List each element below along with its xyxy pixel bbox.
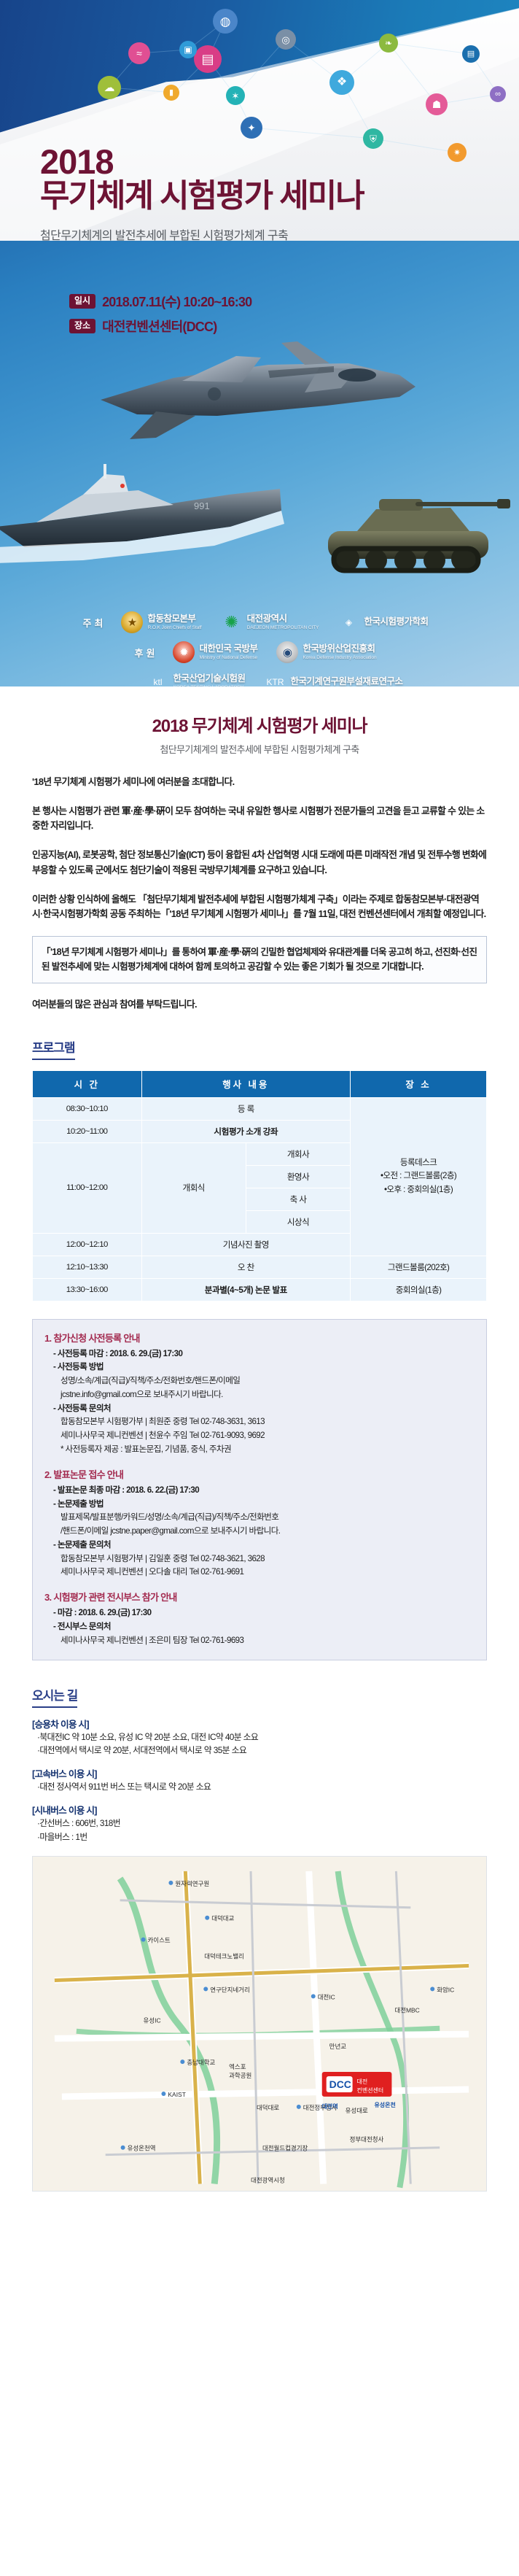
cell-event: 개회식 [141, 1142, 246, 1233]
date-row: 일시 2018.07.11(수) 10:20~16:30 [69, 292, 251, 311]
notice-line: - 전시부스 문의처 [44, 1620, 475, 1634]
directions-line: ·대전역에서 택시로 약 20분, 서대전역에서 택시로 약 35분 소요 [32, 1744, 487, 1757]
intro-title: 2018 무기체계 시험평가 세미나 [32, 711, 487, 737]
antenna-icon: ☗ [426, 93, 448, 115]
sponsor-item-ktl: ktl 한국산업기술시험원 KOREA TESTING LABORATORY [147, 671, 245, 686]
svg-text:과학공원: 과학공원 [229, 2072, 251, 2079]
intro-paragraph-4: 이러한 상황 인식하에 올해도 「첨단무기체계 발전추세에 부합된 시험평가체계… [32, 892, 487, 922]
directions-block-express-bus: [고속버스 이용 시] ·대전 정사역서 911번 버스 또는 택시로 약 20… [32, 1766, 487, 1794]
svg-text:대덕대로: 대덕대로 [257, 2104, 279, 2111]
satellite-icon: ✦ [241, 117, 262, 139]
svg-text:대전: 대전 [357, 2078, 368, 2085]
sponsors-section: 주최 ★ 합동참모본부 R.O.K Joint Chiefs of Staff … [0, 611, 519, 686]
hero-meta-block: 일시 2018.07.11(수) 10:20~16:30 장소 대전컨벤션센터(… [69, 292, 251, 341]
cell-place: 그랜드볼룸(202호) [351, 1256, 487, 1278]
notice-line: - 발표논문 최종 마감 : 2018. 6. 22.(금) 17:30 [44, 1484, 475, 1498]
svg-text:대전IC: 대전IC [318, 1993, 335, 2000]
cell-event: 등 록 [141, 1097, 351, 1120]
fighter-jet-image [86, 330, 429, 461]
notice-line: - 논문제출 방법 [44, 1498, 475, 1512]
directions-block-car: [승용차 이용 시] ·북대전IC 약 10분 소요, 유성 IC 약 20분 … [32, 1717, 487, 1758]
hero-year: 2018 [40, 144, 364, 179]
daejeon-logo-icon: ✺ [221, 611, 243, 633]
date-badge: 일시 [69, 294, 95, 308]
intro-paragraph-5: 여러분들의 많은 관심과 참여를 부탁드립니다. [32, 997, 487, 1013]
host-name-kr: 한국시험평가학회 [364, 617, 428, 627]
intro-note: 「'18년 무기체계 시험평가 세미나」를 통하여 軍·産·學·硏의 긴밀한 협… [32, 936, 487, 983]
notice-section-3: 3. 시험평가 관련 전시부스 참가 안내 - 마감 : 2018. 6. 29… [44, 1590, 475, 1647]
host-name-kr: 합동참모본부 [147, 614, 201, 624]
link-icon: ∞ [490, 86, 506, 102]
intro-paragraph-1: '18년 무기체계 시험평가 세미나에 여러분을 초대합니다. [32, 775, 487, 790]
directions-line: ·대전 정사역서 911번 버스 또는 택시로 약 20분 소요 [32, 1780, 487, 1794]
svg-text:충남대학교: 충남대학교 [187, 2059, 215, 2066]
notice-heading-2: 발표논문 접수 안내 [53, 1469, 123, 1480]
cell-event: 오 찬 [141, 1256, 351, 1278]
host-row: 주최 ★ 합동참모본부 R.O.K Joint Chiefs of Staff … [0, 611, 519, 633]
svg-text:유성대로: 유성대로 [346, 2107, 368, 2114]
svg-text:대전MBC: 대전MBC [394, 2006, 419, 2014]
svg-text:카이스트: 카이스트 [147, 1937, 170, 1944]
notice-title-1: 1. 참가신청 사전등록 안내 [44, 1331, 475, 1345]
notice-heading-1: 참가신청 사전등록 안내 [53, 1333, 139, 1344]
svg-text:유성IC: 유성IC [144, 2016, 161, 2024]
cell-event-sub: 환영사 [246, 1165, 350, 1188]
cell-event-highlight: 시험평가 소개 강좌 [141, 1120, 351, 1142]
sponsor-item-kdia: ◉ 한국방위산업진흥회 Korea Defense Industry Assoc… [276, 641, 376, 663]
svg-text:만년교: 만년교 [329, 2043, 347, 2050]
notice-line: 세미나사무국 제니컨벤션 | 오다솔 대리 Tel 02-761-9691 [44, 1566, 475, 1579]
sponsor-item-ktr: KTR 한국기계연구원부설재료연구소 [265, 671, 403, 686]
program-heading: 프로그램 [32, 1037, 75, 1060]
sponsor-name-kr: 한국산업기술시험원 [173, 674, 245, 684]
sponsor-name-kr: 한국기계연구원부설재료연구소 [291, 677, 403, 686]
intro-subtitle: 첨단무기체계의 발전추세에 부합된 시험평가체계 구축 [32, 742, 487, 756]
cell-event-sub: 축 사 [246, 1188, 350, 1210]
notice-line: 세미나사무국 제니컨벤션 | 천윤수 주임 Tel 02-761-9093, 9… [44, 1429, 475, 1443]
svg-text:대덕대교: 대덕대교 [211, 1915, 234, 1922]
directions-title: [시내버스 이용 시] [32, 1803, 487, 1817]
kates-logo-icon: ◈ [337, 611, 359, 633]
col-event: 행사 내용 [141, 1070, 351, 1097]
sponsor-name-en: Korea Defense Industry Association [303, 655, 376, 660]
notice-line: jcstne.info@gmail.com으로 보내주시기 바랍니다. [44, 1388, 475, 1402]
directions-line: ·북대전IC 약 10분 소요, 유성 IC 약 20분 소요, 대전 IC약 … [32, 1730, 487, 1744]
directions-title: [고속버스 이용 시] [32, 1766, 487, 1780]
host-name-en: DAEJEON METROPOLITAN CITY [247, 625, 319, 630]
directions-title: [승용차 이용 시] [32, 1717, 487, 1730]
cell-time: 13:30~16:00 [33, 1278, 142, 1301]
cell-event: 기념사진 촬영 [141, 1233, 351, 1256]
table-row: 08:30~10:10 등 록 등록데스크 •오전 : 그랜드볼룸(2층) •오… [33, 1097, 487, 1120]
location-map[interactable]: DCC 대전 컨벤션센터 원자력연구원 대덕대교 카이스트 대덕테크노밸리 연구… [32, 1856, 487, 2192]
cell-time: 08:30~10:10 [33, 1097, 142, 1120]
host-item-jcs: ★ 합동참모본부 R.O.K Joint Chiefs of Staff [121, 611, 201, 633]
notice-line: 합동참모본부 시험평가부 | 최원준 중령 Tel 02-748-3631, 3… [44, 1415, 475, 1429]
cell-place: 중회의실(1층) [351, 1278, 487, 1301]
svg-text:대전역: 대전역 [322, 2103, 338, 2110]
lock-icon: ▮ [163, 85, 179, 101]
radar-icon: ◎ [276, 29, 296, 50]
notice-line: - 사전등록 문의처 [44, 1402, 475, 1416]
notice-line: - 사전등록 마감 : 2018. 6. 29.(금) 17:30 [44, 1347, 475, 1361]
network-node-icon: ❖ [329, 70, 354, 95]
database-icon: ▤ [462, 45, 480, 63]
svg-text:대덕테크노밸리: 대덕테크노밸리 [204, 1953, 244, 1960]
host-name-en: R.O.K Joint Chiefs of Staff [147, 625, 201, 630]
host-item-kates: ◈ 한국시험평가학회 [337, 611, 428, 633]
cell-time: 11:00~12:00 [33, 1142, 142, 1233]
directions-block-city-bus: [시내버스 이용 시] ·간선버스 : 606번, 318번 ·마을버스 : 1… [32, 1803, 487, 1844]
cell-time: 12:10~13:30 [33, 1256, 142, 1278]
notice-line: - 논문제출 문의처 [44, 1539, 475, 1552]
program-table: 시 간 행사 내용 장 소 08:30~10:10 등 록 등록데스크 •오전 … [32, 1070, 487, 1301]
place-badge: 장소 [69, 319, 95, 333]
notice-line: 발표제목/발표분행/카워드/성명/소속/계급(직급)/직책/주소/전화번호 [44, 1511, 475, 1525]
notice-section-1: 1. 참가신청 사전등록 안내 - 사전등록 마감 : 2018. 6. 29.… [44, 1331, 475, 1457]
table-row: 13:30~16:00 분과별(4~5개) 논문 발표 중회의실(1층) [33, 1278, 487, 1301]
notice-line: /핸드폰/이메일 jcstne.paper@gmail.com으로 보내주시기 … [44, 1525, 475, 1539]
notice-line: * 사전등록자 제공 : 발표논문집, 기념품, 중식, 주차권 [44, 1443, 475, 1457]
svg-text:유성온천역: 유성온천역 [128, 2145, 156, 2152]
gear-icon: ✶ [226, 86, 245, 105]
shield-icon: ⛨ [363, 128, 383, 149]
leaf-icon: ❧ [379, 34, 398, 53]
directions-line: ·마을버스 : 1번 [32, 1830, 487, 1844]
mnd-emblem-icon: ✹ [173, 641, 195, 663]
jcs-emblem-icon: ★ [121, 611, 143, 633]
svg-text:연구단지네거리: 연구단지네거리 [210, 1986, 250, 1993]
cell-time: 10:20~11:00 [33, 1120, 142, 1142]
kdia-emblem-icon: ◉ [276, 641, 298, 663]
sponsor-name-kr: 대한민국 국방부 [199, 644, 257, 654]
globe-icon: ◍ [213, 9, 238, 34]
svg-text:991: 991 [194, 500, 210, 511]
cell-event-sub: 개회사 [246, 1142, 350, 1165]
ktl-logo-icon: ktl [147, 671, 168, 686]
notice-title-2: 2. 발표논문 접수 안내 [44, 1467, 475, 1481]
tank-image [306, 467, 518, 584]
map-svg: DCC 대전 컨벤션센터 원자력연구원 대덕대교 카이스트 대덕테크노밸리 연구… [32, 1856, 487, 2192]
sponsor-row-2: ktl 한국산업기술시험원 KOREA TESTING LABORATORY K… [0, 671, 519, 686]
svg-text:대전월드컵경기장: 대전월드컵경기장 [262, 2145, 308, 2152]
host-label: 주최 [71, 616, 117, 630]
ktr-logo-icon: KTR [265, 671, 286, 686]
hero-subtitle: 첨단무기체계의 발전추세에 부합된 시험평가체계 구축 [40, 225, 364, 243]
intro-paragraph-3: 인공지능(AI), 로봇공학, 첨단 정보통신기술(ICT) 등이 융합된 4차… [32, 848, 487, 878]
notices-box: 1. 참가신청 사전등록 안내 - 사전등록 마감 : 2018. 6. 29.… [32, 1319, 487, 1660]
sponsor-name-en: Ministry of National Defense [199, 655, 257, 660]
notice-num-2: 2. [44, 1469, 51, 1480]
map-destination-label: DCC [329, 2078, 351, 2090]
svg-text:컨벤션센터: 컨벤션센터 [357, 2086, 384, 2094]
cell-event-sub: 시상식 [246, 1210, 350, 1233]
seminar-poster-page: ◍ ▤ ☁ ▣ ≈ ✶ ▮ ✦ ◎ ❖ ❧ ☗ ▤ ⛨ ✷ ∞ 2018 무기체… [0, 0, 519, 2216]
directions-heading: 오시는 길 [32, 1685, 77, 1708]
svg-text:정부대전청사: 정부대전청사 [350, 2136, 384, 2143]
col-place: 장 소 [351, 1070, 487, 1097]
notice-line: 성명/소속/계급(직급)/직책/주소/전화번호/핸드폰/이메일 [44, 1374, 475, 1388]
svg-text:유성온천: 유성온천 [374, 2101, 395, 2108]
notice-line: - 마감 : 2018. 6. 29.(금) 17:30 [44, 1606, 475, 1620]
place-row: 장소 대전컨벤션센터(DCC) [69, 317, 251, 336]
hero-banner: ◍ ▤ ☁ ▣ ≈ ✶ ▮ ✦ ◎ ❖ ❧ ☗ ▤ ⛨ ✷ ∞ 2018 무기체… [0, 0, 519, 686]
chip-icon: ▣ [179, 41, 197, 58]
sponsor-label: 후원 [123, 646, 168, 660]
bulb-icon: ✷ [448, 143, 467, 162]
intro-paragraph-2: 본 행사는 시험평가 관련 軍·産·學·硏이 모두 참여하는 국내 유일한 행사… [32, 804, 487, 834]
sponsor-name-kr: 한국방위산업진흥회 [303, 644, 376, 654]
table-header-row: 시 간 행사 내용 장 소 [33, 1070, 487, 1097]
mobile-data-icon: ▤ [194, 45, 222, 73]
signal-icon: ≈ [128, 42, 150, 64]
notice-num-3: 3. [44, 1592, 51, 1603]
content-section: 2018 무기체계 시험평가 세미나 첨단무기체계의 발전추세에 부합된 시험평… [0, 686, 519, 2216]
cell-time: 12:00~12:10 [33, 1233, 142, 1256]
notice-line: 세미나사무국 제니컨벤션 | 조은미 팀장 Tel 02-761-9693 [44, 1634, 475, 1648]
host-name-kr: 대전광역시 [247, 614, 319, 624]
hero-title: 무기체계 시험평가 세미나 [40, 178, 364, 214]
hero-title-block: 2018 무기체계 시험평가 세미나 첨단무기체계의 발전추세에 부합된 시험평… [40, 144, 364, 243]
svg-text:원자력연구원: 원자력연구원 [175, 1880, 209, 1887]
cell-event-highlight: 분과별(4~5개) 논문 발표 [141, 1278, 351, 1301]
col-time: 시 간 [33, 1070, 142, 1097]
table-row: 12:10~13:30 오 찬 그랜드볼룸(202호) [33, 1256, 487, 1278]
cloud-icon: ☁ [98, 76, 121, 99]
cell-place-registration: 등록데스크 •오전 : 그랜드볼룸(2층) •오후 : 중회의실(1층) [351, 1097, 487, 1256]
directions-line: ·간선버스 : 606번, 318번 [32, 1817, 487, 1830]
notice-line: 합동참모본부 시험평가부 | 김일훈 중령 Tel 02-748-3621, 3… [44, 1552, 475, 1566]
sponsor-item-mnd: ✹ 대한민국 국방부 Ministry of National Defense [173, 641, 257, 663]
svg-text:화암IC: 화암IC [437, 1986, 454, 1993]
place-value: 대전컨벤션센터(DCC) [102, 317, 216, 336]
svg-text:KAIST: KAIST [168, 2091, 185, 2098]
notice-line: - 사전등록 방법 [44, 1361, 475, 1374]
sponsor-row: 후원 ✹ 대한민국 국방부 Ministry of National Defen… [0, 641, 519, 663]
notice-heading-3: 시험평가 관련 전시부스 참가 안내 [53, 1592, 176, 1603]
date-value: 2018.07.11(수) 10:20~16:30 [102, 292, 251, 311]
svg-text:엑스포: 엑스포 [229, 2063, 246, 2070]
host-item-daejeon: ✺ 대전광역시 DAEJEON METROPOLITAN CITY [221, 611, 319, 633]
notice-num-1: 1. [44, 1333, 51, 1344]
sponsor-name-en: KOREA TESTING LABORATORY [173, 685, 245, 686]
svg-text:대전광역시청: 대전광역시청 [251, 2177, 285, 2184]
notice-section-2: 2. 발표논문 접수 안내 - 발표논문 최종 마감 : 2018. 6. 22… [44, 1467, 475, 1579]
notice-title-3: 3. 시험평가 관련 전시부스 참가 안내 [44, 1590, 475, 1604]
